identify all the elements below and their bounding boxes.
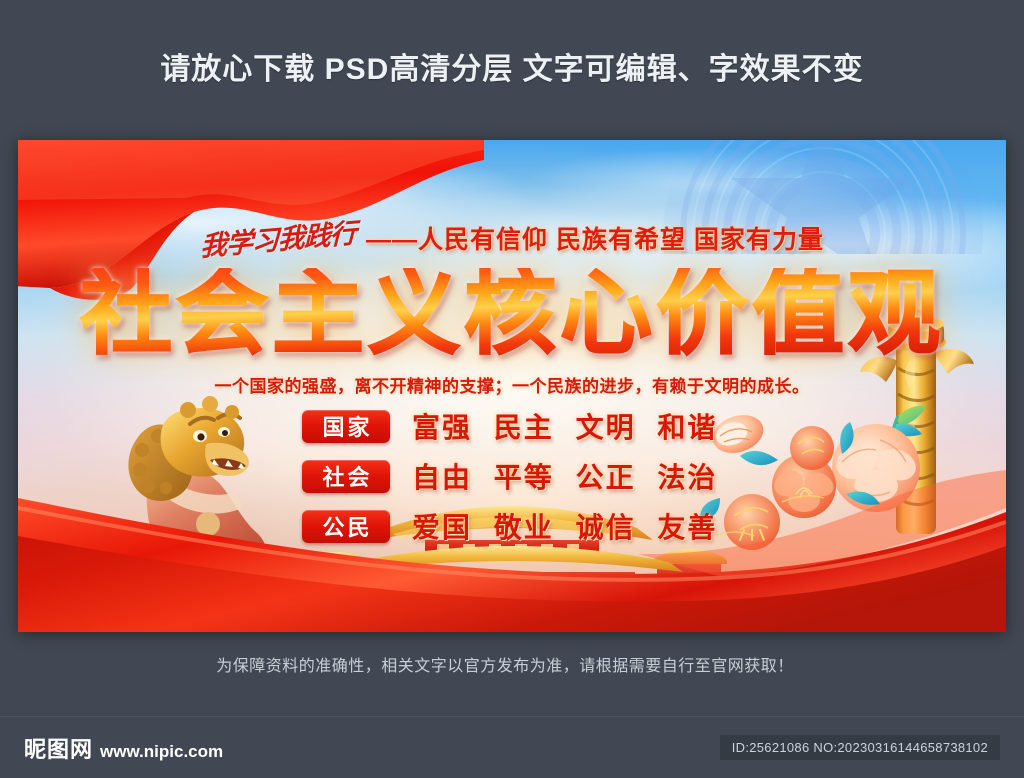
value-word: 爱国 [412,512,472,543]
value-row-society: 社会 自由 平等 公正 法治 [302,456,722,496]
disclaimer-text: 为保障资料的准确性，相关文字以官方发布为准，请根据需要自行至官网获取！ [0,652,1024,676]
value-row-citizen: 公民 爱国 敬业 诚信 友善 [302,506,722,546]
value-badge-country: 国家 [302,410,390,443]
brand-url[interactable]: www.nipic.com [100,742,223,762]
value-word: 民主 [494,412,554,443]
asset-id-chip: ID:25621086 NO:20230316144658738102 [720,735,1000,760]
slogan-calligraphy: 我学习我践行 [200,211,356,264]
site-brand[interactable]: 昵图网 www.nipic.com [24,732,223,764]
poster-banner: 我学习我践行 ——人民有信仰 民族有希望 国家有力量 社会主义核心价值观 一个国… [18,140,1006,632]
value-word: 富强 [412,412,472,443]
value-badge-citizen: 公民 [302,510,390,543]
subtitle-text: 一个国家的强盛，离不开精神的支撑；一个民族的进步，有赖于文明的成长。 [18,372,1006,397]
value-word: 自由 [412,462,472,493]
slogan-main-text: ——人民有信仰 民族有希望 国家有力量 [366,220,824,256]
value-word: 法治 [657,462,717,493]
value-word: 和谐 [657,412,717,443]
value-row-country: 国家 富强 民主 文明 和谐 [302,406,722,446]
top-header-bar: 请放心下载 PSD高清分层 文字可编辑、字效果不变 [0,0,1024,132]
footer-bar: 昵图网 www.nipic.com ID:25621086 NO:2023031… [0,716,1024,778]
core-values-list: 国家 富强 民主 文明 和谐 社会 自由 平等 公正 法治 公民 [18,406,1006,546]
value-badge-society: 社会 [302,460,390,493]
value-words-citizen: 爱国 敬业 诚信 友善 [412,506,717,546]
brand-name-cn: 昵图网 [24,732,93,764]
poster-text-content: 我学习我践行 ——人民有信仰 民族有希望 国家有力量 社会主义核心价值观 一个国… [18,140,1006,632]
value-word: 平等 [494,462,554,493]
value-word: 友善 [657,512,717,543]
value-word: 公正 [576,462,636,493]
value-word: 文明 [576,412,636,443]
slogan-row: 我学习我践行 ——人民有信仰 民族有希望 国家有力量 [18,218,1006,257]
value-words-country: 富强 民主 文明 和谐 [412,406,717,446]
value-words-society: 自由 平等 公正 法治 [412,456,717,496]
value-word: 诚信 [576,512,636,543]
main-title: 社会主义核心价值观 [18,268,1006,360]
value-word: 敬业 [494,512,554,543]
download-notice-text: 请放心下载 PSD高清分层 文字可编辑、字效果不变 [160,44,863,88]
